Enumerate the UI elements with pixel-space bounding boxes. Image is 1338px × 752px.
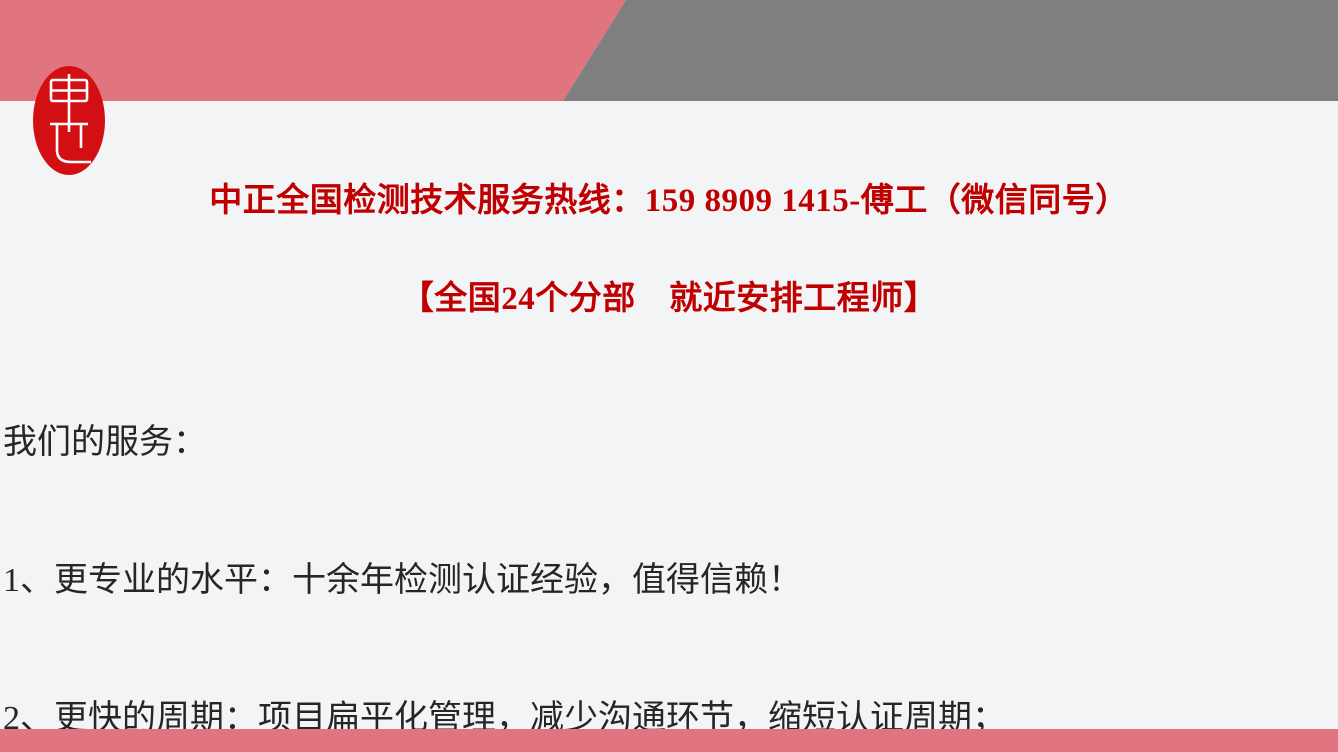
branches-subline: 【全国24个分部 就近安排工程师】	[0, 279, 1338, 320]
services-block: 我们的服务： 1、更专业的水平：十余年检测认证经验，值得信赖！ 2、更快的周期：…	[3, 328, 1333, 752]
top-banner-decoration	[0, 0, 1338, 101]
services-heading: 我们的服务：	[3, 420, 1333, 466]
banner-gray-shape	[563, 0, 1338, 101]
company-logo	[33, 66, 105, 175]
slide-canvas: 中正全国检测技术服务热线：159 8909 1415-傅工（微信同号） 【全国2…	[0, 0, 1338, 752]
service-item-1: 1、更专业的水平：十余年检测认证经验，值得信赖！	[3, 558, 1333, 604]
hotline-headline: 中正全国检测技术服务热线：159 8909 1415-傅工（微信同号）	[0, 181, 1338, 222]
bottom-accent-bar	[0, 729, 1338, 752]
